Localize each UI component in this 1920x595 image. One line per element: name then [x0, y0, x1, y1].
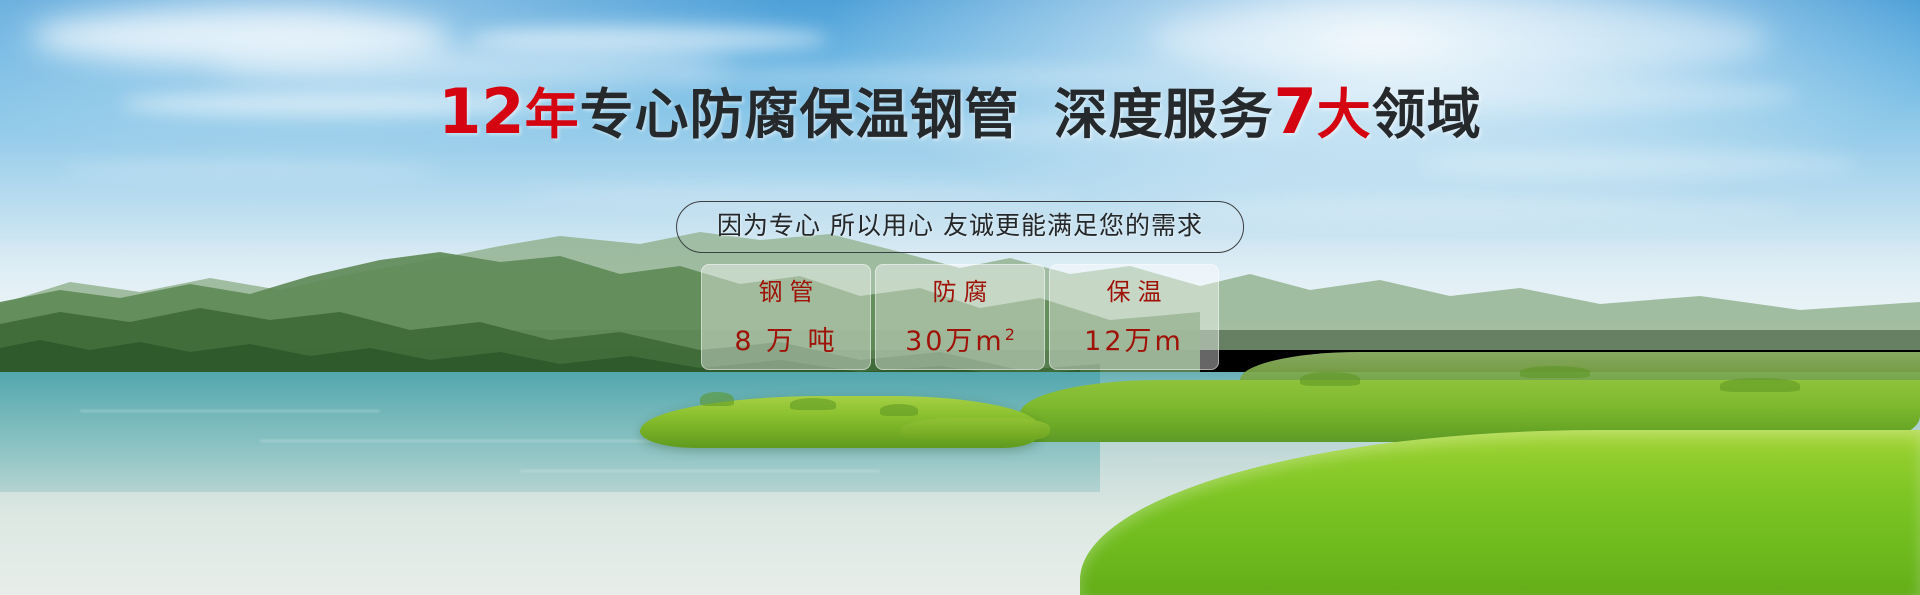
- stat-card-value: 30万m2: [905, 319, 1015, 358]
- headline-part1: 专心防腐保温钢管: [580, 83, 1020, 146]
- stat-card: 防腐 30万m2: [875, 264, 1045, 370]
- tagline-text: 因为专心 所以用心 友诚更能满足您的需求: [717, 211, 1203, 240]
- stat-card-title: 钢管: [752, 277, 821, 307]
- headline-highlight-number: 7: [1274, 75, 1317, 148]
- stat-card-value: 8 万 吨: [734, 319, 837, 358]
- headline-part2: 深度服务: [1054, 83, 1274, 146]
- stat-card: 保温 12万m: [1049, 264, 1219, 370]
- stat-card-title: 防腐: [926, 277, 995, 307]
- stat-card-value: 12万m: [1084, 319, 1184, 358]
- tagline-pill: 因为专心 所以用心 友诚更能满足您的需求: [676, 201, 1244, 253]
- banner-content: 12年专心防腐保温钢管深度服务7大领域 因为专心 所以用心 友诚更能满足您的需求…: [0, 0, 1920, 595]
- stat-value-superscript: 2: [1005, 325, 1015, 344]
- headline-years-number: 12: [438, 75, 524, 148]
- headline: 12年专心防腐保温钢管深度服务7大领域: [0, 79, 1920, 148]
- stat-card-title: 保温: [1100, 277, 1169, 307]
- stats-card-group: 钢管 8 万 吨 防腐 30万m2 保温 12万m: [701, 264, 1219, 370]
- headline-highlight-unit: 大: [1317, 83, 1372, 146]
- stat-value-text: 8 万 吨: [734, 326, 837, 357]
- stat-card: 钢管 8 万 吨: [701, 264, 871, 370]
- hero-banner: 12年专心防腐保温钢管深度服务7大领域 因为专心 所以用心 友诚更能满足您的需求…: [0, 0, 1920, 595]
- stat-value-text: 12万m: [1084, 326, 1184, 357]
- stat-value-text: 30万m: [905, 326, 1005, 357]
- headline-years-unit: 年: [525, 83, 580, 146]
- headline-part3: 领域: [1372, 83, 1482, 146]
